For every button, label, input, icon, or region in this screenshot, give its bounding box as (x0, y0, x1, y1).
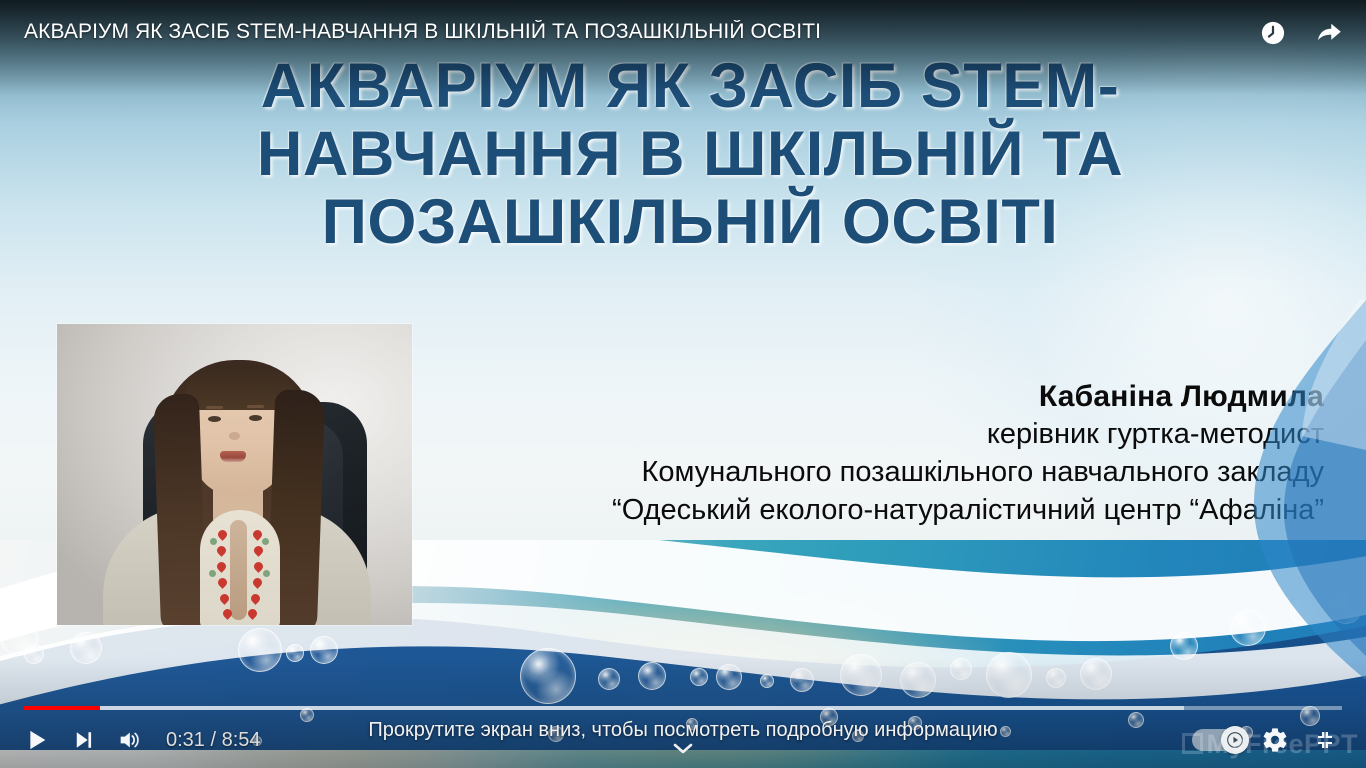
right-controls-group (1192, 712, 1350, 768)
time-display: 0:31 / 8:54 (166, 729, 261, 752)
play-button[interactable] (14, 716, 60, 764)
video-title: АКВАРІУМ ЯК ЗАСІБ STEM-НАВЧАННЯ В ШКІЛЬН… (24, 20, 821, 44)
progress-played (24, 706, 100, 710)
player-controls-bar: 0:31 / 8:54 (0, 712, 1366, 768)
autoplay-toggle[interactable] (1192, 729, 1246, 751)
author-role: керівник гуртка-методист (484, 416, 1324, 454)
watch-later-icon[interactable] (1258, 18, 1288, 48)
progress-bar[interactable] (24, 706, 1342, 710)
author-name: Кабаніна Людмила (484, 378, 1324, 416)
slide-title: АКВАРІУМ ЯК ЗАСІБ STEM- НАВЧАННЯ В ШКІЛЬ… (120, 52, 1260, 256)
slide-author-block: Кабаніна Людмила керівник гуртка-методис… (484, 378, 1324, 529)
top-actions-bar (1258, 18, 1344, 48)
author-organization-line-1: Комунального позашкільного навчального з… (484, 454, 1324, 492)
progress-buffered (24, 706, 1184, 710)
autoplay-toggle-knob (1221, 726, 1249, 754)
settings-button[interactable] (1252, 716, 1298, 764)
author-organization-line-2: “Одеський еколого-натуралістичний центр … (484, 492, 1324, 530)
video-player[interactable]: АКВАРІУМ ЯК ЗАСІБ STEM- НАВЧАННЯ В ШКІЛЬ… (0, 0, 1366, 768)
exit-fullscreen-button[interactable] (1304, 716, 1350, 764)
video-frame: АКВАРІУМ ЯК ЗАСІБ STEM- НАВЧАННЯ В ШКІЛЬ… (0, 0, 1366, 768)
volume-button[interactable] (106, 716, 152, 764)
share-icon[interactable] (1314, 18, 1344, 48)
next-video-button[interactable] (60, 716, 106, 764)
presenter-webcam-inset (57, 324, 412, 625)
